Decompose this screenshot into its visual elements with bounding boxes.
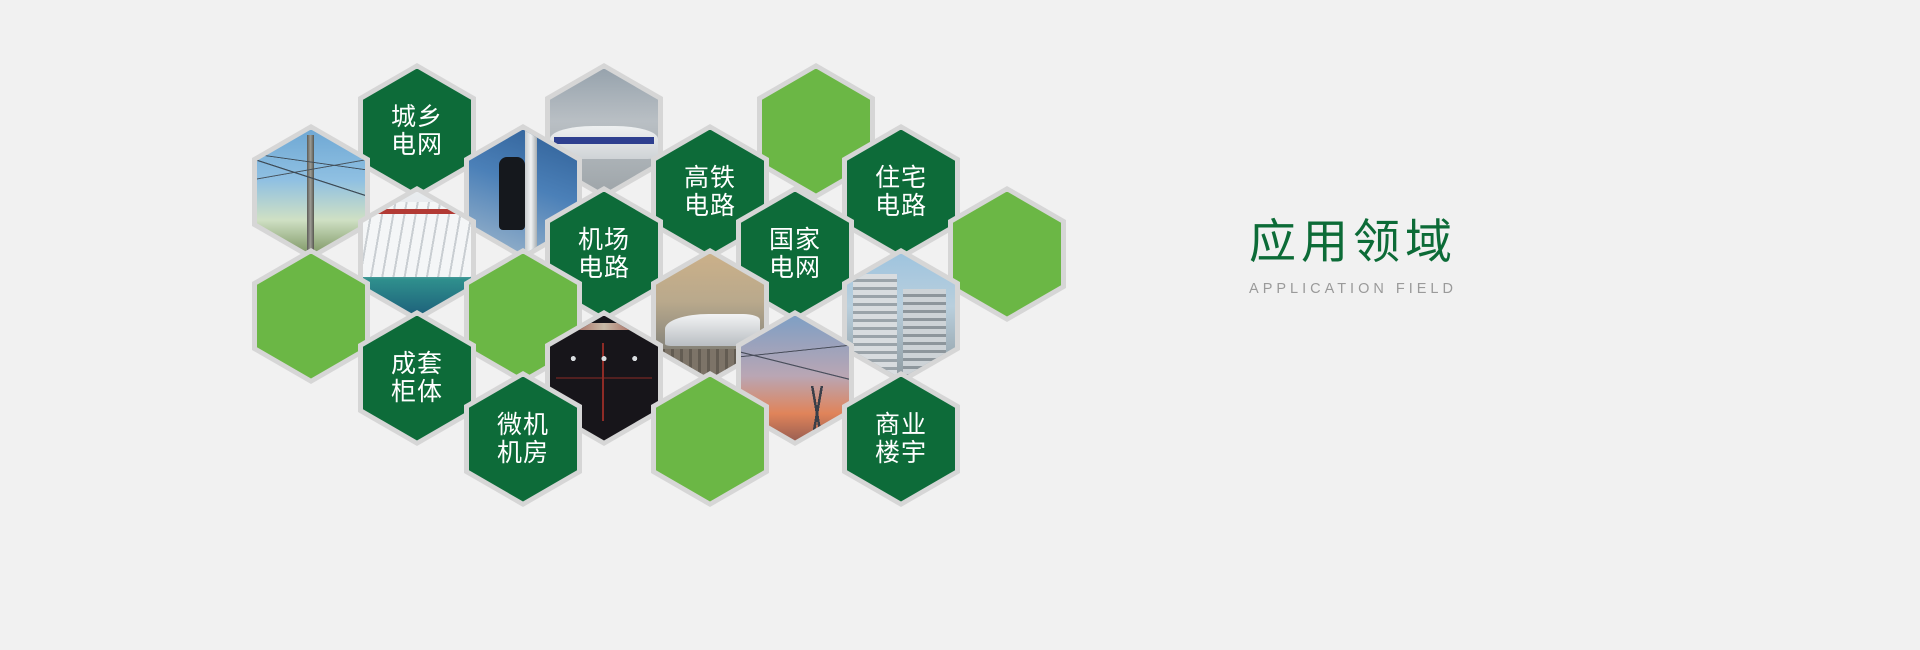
- hexagon-label: 商业 楼宇: [875, 411, 927, 467]
- hexagon-label: 城乡 电网: [391, 103, 443, 159]
- switchgear-cabinets-photo: [363, 192, 471, 317]
- hexagon-cheng-tao-gui-ti[interactable]: 成套 柜体: [358, 310, 476, 446]
- hexagon-fill: [656, 377, 764, 502]
- hexagon-label: 国家 电网: [769, 226, 821, 282]
- residential-highrise-photo: [847, 254, 955, 379]
- hexagon-label: 微机 机房: [497, 411, 549, 467]
- hexagon-shang-ye-lou-yu[interactable]: 商业 楼宇: [842, 371, 960, 507]
- hexagon-cheng-xiang-dian-wang[interactable]: 城乡 电网: [358, 63, 476, 199]
- hexagon-fill: 城乡 电网: [363, 69, 471, 194]
- hexagon-fill: [847, 254, 955, 379]
- hexagon-fill: [363, 192, 471, 317]
- page-title: 应用领域: [1143, 218, 1563, 267]
- hexagon-fill: 成套 柜体: [363, 316, 471, 441]
- hexagon-label: 住宅 电路: [875, 164, 927, 220]
- hexagon-fill: [257, 254, 365, 379]
- hexagon-label: 机场 电路: [578, 226, 630, 282]
- utility-pole-photo: [257, 130, 365, 255]
- hexagon-solid: [948, 186, 1066, 322]
- application-field-banner: 城乡 电网 高铁 电路 住宅 电路: [0, 0, 1920, 650]
- hexagon-photo-utility-pole: [252, 124, 370, 260]
- hexagon-fill: [953, 192, 1061, 317]
- hexagon-honeycomb: 城乡 电网 高铁 电路 住宅 电路: [0, 0, 1100, 650]
- hexagon-fill: 住宅 电路: [847, 130, 955, 255]
- hexagon-photo-switchgear: [358, 186, 476, 322]
- hexagon-fill: [257, 130, 365, 255]
- page-subtitle: APPLICATION FIELD: [1143, 281, 1563, 297]
- hexagon-fill: 微机 机房: [469, 377, 577, 502]
- hexagon-photo-highrise: [842, 248, 960, 384]
- hexagon-label: 高铁 电路: [684, 164, 736, 220]
- hexagon-solid: [252, 248, 370, 384]
- hexagon-label: 成套 柜体: [391, 350, 443, 406]
- title-block: 应用领域 APPLICATION FIELD: [1143, 218, 1563, 297]
- hexagon-fill: 商业 楼宇: [847, 377, 955, 502]
